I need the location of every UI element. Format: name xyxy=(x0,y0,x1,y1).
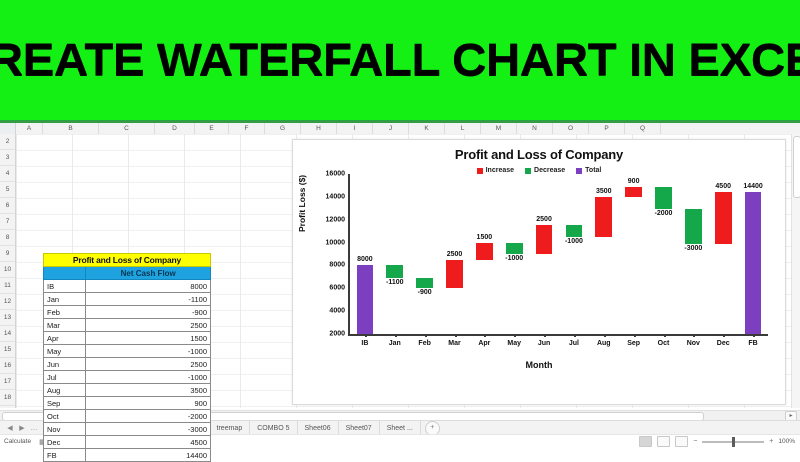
x-axis-tick-label: Dec xyxy=(717,340,730,347)
nav-next-sheet-icon[interactable]: ▶ xyxy=(16,424,28,432)
cell-month-label[interactable]: May xyxy=(44,345,86,358)
cell-month-label[interactable]: Mar xyxy=(44,319,86,332)
cell-month-label[interactable]: Feb xyxy=(44,306,86,319)
table-row[interactable]: Oct-2000 xyxy=(44,410,211,423)
row-header-strip: 234567891011121314151617181920 xyxy=(0,134,16,408)
status-calculate-text: Calculate xyxy=(4,438,31,445)
column-header-l[interactable]: L xyxy=(445,123,481,134)
x-axis-tick-mark xyxy=(693,334,695,337)
cell-net-cash-flow-value[interactable]: 8000 xyxy=(86,280,211,293)
chart-bar-aug[interactable] xyxy=(595,197,612,237)
bar-value-label: -1000 xyxy=(499,255,529,262)
view-page-break-button[interactable] xyxy=(675,436,688,447)
row-header-13[interactable]: 13 xyxy=(0,310,15,326)
table-row[interactable]: IB8000 xyxy=(44,280,211,293)
x-axis-tick-label: FB xyxy=(748,340,757,347)
table-row[interactable]: Jan-1100 xyxy=(44,293,211,306)
bar-value-label: -3000 xyxy=(678,245,708,252)
waterfall-chart[interactable]: Profit and Loss of Company IncreaseDecre… xyxy=(292,139,786,405)
chart-bar-nov[interactable] xyxy=(685,209,702,243)
cell-month-label[interactable]: Jun xyxy=(44,358,86,371)
cell-net-cash-flow-value[interactable]: 4500 xyxy=(86,436,211,449)
select-all-corner[interactable] xyxy=(0,123,16,134)
row-header-17[interactable]: 17 xyxy=(0,374,15,390)
chart-bar-fb[interactable] xyxy=(745,192,762,334)
x-axis-tick-label: Jul xyxy=(569,340,579,347)
profit-loss-table[interactable]: Profit and Loss of Company Net Cash Flow… xyxy=(43,253,211,462)
row-header-8[interactable]: 8 xyxy=(0,230,15,246)
zoom-slider[interactable] xyxy=(702,441,764,443)
chart-bar-jan[interactable] xyxy=(386,265,403,278)
table-row[interactable]: Nov-3000 xyxy=(44,423,211,436)
cell-month-label[interactable]: Apr xyxy=(44,332,86,345)
row-header-6[interactable]: 6 xyxy=(0,198,15,214)
excel-workspace: ABCDEFGHIJKLMNOPQ 2345678910111213141516… xyxy=(0,120,800,448)
row-header-9[interactable]: 9 xyxy=(0,246,15,262)
cell-month-label[interactable]: Jul xyxy=(44,371,86,384)
bar-value-label: -1000 xyxy=(559,238,589,245)
column-header-b[interactable]: B xyxy=(43,123,99,134)
chart-bar-ib[interactable] xyxy=(357,265,374,334)
cell-net-cash-flow-value[interactable]: -1000 xyxy=(86,345,211,358)
row-header-4[interactable]: 4 xyxy=(0,166,15,182)
table-row[interactable]: Aug3500 xyxy=(44,384,211,397)
chart-bar-feb[interactable] xyxy=(416,278,433,288)
cell-net-cash-flow-value[interactable]: -1100 xyxy=(86,293,211,306)
chart-bar-jul[interactable] xyxy=(566,225,583,236)
chart-bar-mar[interactable] xyxy=(446,260,463,289)
x-axis-tick-mark xyxy=(455,334,457,337)
x-axis-tick-label: Jun xyxy=(538,340,550,347)
x-axis-tick-mark xyxy=(544,334,546,337)
chart-bars-container: 8000IB-1100Jan-900Feb2500Mar1500Apr-1000… xyxy=(350,174,768,334)
column-header-n[interactable]: N xyxy=(517,123,553,134)
chart-bar-oct[interactable] xyxy=(655,187,672,210)
bar-value-label: -1100 xyxy=(380,279,410,286)
x-axis-tick-mark xyxy=(514,334,516,337)
x-axis-tick-mark xyxy=(723,334,725,337)
x-axis-tick-label: Jan xyxy=(389,340,401,347)
legend-label: Decrease xyxy=(534,167,565,174)
column-header-h[interactable]: H xyxy=(301,123,337,134)
x-axis-tick-label: May xyxy=(507,340,521,347)
x-axis-tick-label: Nov xyxy=(687,340,700,347)
table-row[interactable]: Sep900 xyxy=(44,397,211,410)
zoom-in-button[interactable]: + xyxy=(769,438,773,445)
excel-window: CREATE WATERFALL CHART IN EXCEL ABCDEFGH… xyxy=(0,0,800,448)
table-row[interactable]: Jun2500 xyxy=(44,358,211,371)
y-axis-ticks: 200040006000800010000120001400016000 xyxy=(311,174,345,336)
table-row[interactable]: Apr1500 xyxy=(44,332,211,345)
chart-plot-area: Profit Loss ($) 200040006000800010000120… xyxy=(293,174,785,380)
zoom-out-button[interactable]: − xyxy=(693,438,697,445)
column-header-f[interactable]: F xyxy=(229,123,265,134)
x-axis-label: Month xyxy=(293,360,785,370)
cell-net-cash-flow-value[interactable]: 900 xyxy=(86,397,211,410)
bar-value-label: 14400 xyxy=(738,183,768,190)
table-row[interactable]: FB14400 xyxy=(44,449,211,462)
vertical-scroll-thumb[interactable] xyxy=(793,136,800,198)
y-axis-tick-label: 14000 xyxy=(326,193,345,200)
row-header-2[interactable]: 2 xyxy=(0,134,15,150)
view-page-layout-button[interactable] xyxy=(657,436,670,447)
nav-more-sheets-icon[interactable]: … xyxy=(28,425,40,432)
status-right-group: − + 100% xyxy=(639,436,795,447)
bar-value-label: 2500 xyxy=(440,251,470,258)
column-header-i[interactable]: I xyxy=(337,123,373,134)
x-axis-tick-label: Mar xyxy=(448,340,460,347)
legend-swatch-decrease xyxy=(525,168,531,174)
legend-swatch-total xyxy=(576,168,582,174)
y-axis-label: Profit Loss ($) xyxy=(297,175,307,232)
row-header-18[interactable]: 18 xyxy=(0,390,15,406)
y-axis-tick-label: 6000 xyxy=(329,285,345,292)
cell-month-label[interactable]: Sep xyxy=(44,397,86,410)
cell-net-cash-flow-value[interactable]: -900 xyxy=(86,306,211,319)
row-header-7[interactable]: 7 xyxy=(0,214,15,230)
cell-net-cash-flow-value[interactable]: 14400 xyxy=(86,449,211,462)
table-title-row: Profit and Loss of Company xyxy=(44,254,211,267)
cell-month-label[interactable]: FB xyxy=(44,449,86,462)
bar-value-label: 3500 xyxy=(589,188,619,195)
y-axis-tick-label: 4000 xyxy=(329,308,345,315)
view-normal-button[interactable] xyxy=(639,436,652,447)
legend-item-decrease: Decrease xyxy=(525,167,565,174)
vertical-scrollbar[interactable] xyxy=(791,134,800,408)
column-header-o[interactable]: O xyxy=(553,123,589,134)
bar-value-label: 900 xyxy=(619,178,649,185)
table-row[interactable]: Jul-1000 xyxy=(44,371,211,384)
zoom-percent-label[interactable]: 100% xyxy=(778,438,795,445)
cell-month-label[interactable]: Nov xyxy=(44,423,86,436)
bar-value-label: 8000 xyxy=(350,256,380,263)
zoom-slider-handle[interactable] xyxy=(732,437,735,447)
row-header-11[interactable]: 11 xyxy=(0,278,15,294)
legend-swatch-increase xyxy=(477,168,483,174)
chart-title: Profit and Loss of Company xyxy=(293,147,785,162)
cell-net-cash-flow-value[interactable]: 3500 xyxy=(86,384,211,397)
legend-label: Increase xyxy=(486,167,514,174)
table-subheader-blank[interactable] xyxy=(44,267,86,280)
row-header-12[interactable]: 12 xyxy=(0,294,15,310)
cell-net-cash-flow-value[interactable]: 1500 xyxy=(86,332,211,345)
column-header-e[interactable]: E xyxy=(195,123,229,134)
row-header-5[interactable]: 5 xyxy=(0,182,15,198)
legend-item-total: Total xyxy=(576,167,601,174)
x-axis-tick-mark xyxy=(664,334,666,337)
bar-value-label: 4500 xyxy=(708,183,738,190)
x-axis-line xyxy=(348,334,768,336)
cell-month-label[interactable]: Aug xyxy=(44,384,86,397)
chart-legend: IncreaseDecreaseTotal xyxy=(293,167,785,174)
chart-bar-jun[interactable] xyxy=(536,225,553,254)
x-axis-tick-label: IB xyxy=(361,340,368,347)
x-axis-tick-label: Oct xyxy=(658,340,670,347)
y-axis-tick-label: 8000 xyxy=(329,262,345,269)
table-row[interactable]: Dec4500 xyxy=(44,436,211,449)
row-header-10[interactable]: 10 xyxy=(0,262,15,278)
bar-value-label: -2000 xyxy=(649,210,679,217)
x-axis-tick-mark xyxy=(634,334,636,337)
title-banner: CREATE WATERFALL CHART IN EXCEL xyxy=(0,0,800,120)
table-row[interactable]: Feb-900 xyxy=(44,306,211,319)
banner-text: CREATE WATERFALL CHART IN EXCEL xyxy=(0,34,800,86)
y-axis-tick-label: 10000 xyxy=(326,239,345,246)
column-header-m[interactable]: M xyxy=(481,123,517,134)
column-header-d[interactable]: D xyxy=(155,123,195,134)
x-axis-tick-mark xyxy=(753,334,755,337)
chart-bar-apr[interactable] xyxy=(476,243,493,260)
column-header-p[interactable]: P xyxy=(589,123,625,134)
row-header-3[interactable]: 3 xyxy=(0,150,15,166)
table-subheader-row: Net Cash Flow xyxy=(44,267,211,280)
x-axis-tick-label: Apr xyxy=(478,340,490,347)
cell-month-label[interactable]: IB xyxy=(44,280,86,293)
chart-bar-dec[interactable] xyxy=(715,192,732,243)
row-header-15[interactable]: 15 xyxy=(0,342,15,358)
bar-value-label: 1500 xyxy=(469,234,499,241)
row-header-14[interactable]: 14 xyxy=(0,326,15,342)
x-axis-tick-mark xyxy=(604,334,606,337)
y-axis-tick-label: 2000 xyxy=(329,331,345,338)
cell-net-cash-flow-value[interactable]: -2000 xyxy=(86,410,211,423)
cell-month-label[interactable]: Oct xyxy=(44,410,86,423)
legend-label: Total xyxy=(585,167,601,174)
cell-month-label[interactable]: Dec xyxy=(44,436,86,449)
column-header-g[interactable]: G xyxy=(265,123,301,134)
x-axis-tick-label: Sep xyxy=(627,340,640,347)
column-header-a[interactable]: A xyxy=(16,123,43,134)
cell-net-cash-flow-value[interactable]: 2500 xyxy=(86,358,211,371)
y-axis-tick-label: 16000 xyxy=(326,171,345,178)
x-axis-tick-mark xyxy=(365,334,367,337)
y-axis-tick-label: 12000 xyxy=(326,216,345,223)
column-header-c[interactable]: C xyxy=(99,123,155,134)
cell-net-cash-flow-value[interactable]: -1000 xyxy=(86,371,211,384)
nav-first-sheet-icon[interactable]: ◀ xyxy=(4,424,16,432)
column-header-j[interactable]: J xyxy=(373,123,409,134)
table-subheader-netcashflow[interactable]: Net Cash Flow xyxy=(86,267,211,280)
bar-value-label: 2500 xyxy=(529,216,559,223)
bar-value-label: -900 xyxy=(410,289,440,296)
chart-bar-may[interactable] xyxy=(506,243,523,254)
cell-net-cash-flow-value[interactable]: 2500 xyxy=(86,319,211,332)
table-title-cell[interactable]: Profit and Loss of Company xyxy=(44,254,211,267)
x-axis-tick-mark xyxy=(425,334,427,337)
chart-bar-sep[interactable] xyxy=(625,187,642,197)
column-header-q[interactable]: Q xyxy=(625,123,661,134)
x-axis-tick-label: Aug xyxy=(597,340,611,347)
x-axis-tick-mark xyxy=(574,334,576,337)
x-axis-tick-mark xyxy=(395,334,397,337)
x-axis-tick-label: Feb xyxy=(418,340,430,347)
legend-item-increase: Increase xyxy=(477,167,514,174)
table-row[interactable]: May-1000 xyxy=(44,345,211,358)
x-axis-tick-mark xyxy=(484,334,486,337)
cell-month-label[interactable]: Jan xyxy=(44,293,86,306)
cell-net-cash-flow-value[interactable]: -3000 xyxy=(86,423,211,436)
row-header-16[interactable]: 16 xyxy=(0,358,15,374)
column-header-k[interactable]: K xyxy=(409,123,445,134)
table-row[interactable]: Mar2500 xyxy=(44,319,211,332)
